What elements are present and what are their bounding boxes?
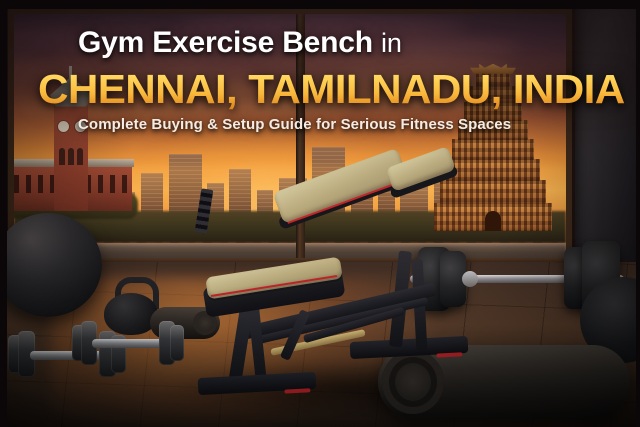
dumbbell-bar xyxy=(92,339,164,348)
headline-line-1: Gym Exercise Bench in xyxy=(78,26,402,60)
gopuram-entrance xyxy=(485,211,501,231)
bench-front-foot xyxy=(198,372,317,395)
headline-line-2-location: CHENNAI, TAMILNADU, INDIA xyxy=(38,66,625,113)
bench-adjustment-ladder xyxy=(195,188,214,233)
bench-rear-foot xyxy=(350,336,469,359)
tower-window xyxy=(68,148,74,165)
border-top xyxy=(0,0,640,9)
tower-window xyxy=(59,148,65,165)
tower-window xyxy=(77,148,83,165)
poster-text-block: Gym Exercise Bench in CHENNAI, TAMILNADU… xyxy=(0,0,640,150)
headline-primary-text: Gym Exercise Bench xyxy=(78,26,373,59)
adjustable-weight-bench xyxy=(198,189,470,399)
dumbbell-plate xyxy=(170,325,184,361)
gopuram-tier xyxy=(446,159,540,181)
poster-subtitle: Complete Buying & Setup Guide for Seriou… xyxy=(78,116,511,133)
bench-front-leg xyxy=(248,307,267,384)
border-right xyxy=(636,0,640,427)
poster-banner: Gym Exercise Bench in CHENNAI, TAMILNADU… xyxy=(0,0,640,427)
dumbbell xyxy=(72,321,184,365)
border-left xyxy=(0,0,7,427)
headline-connector-text: in xyxy=(381,28,402,58)
